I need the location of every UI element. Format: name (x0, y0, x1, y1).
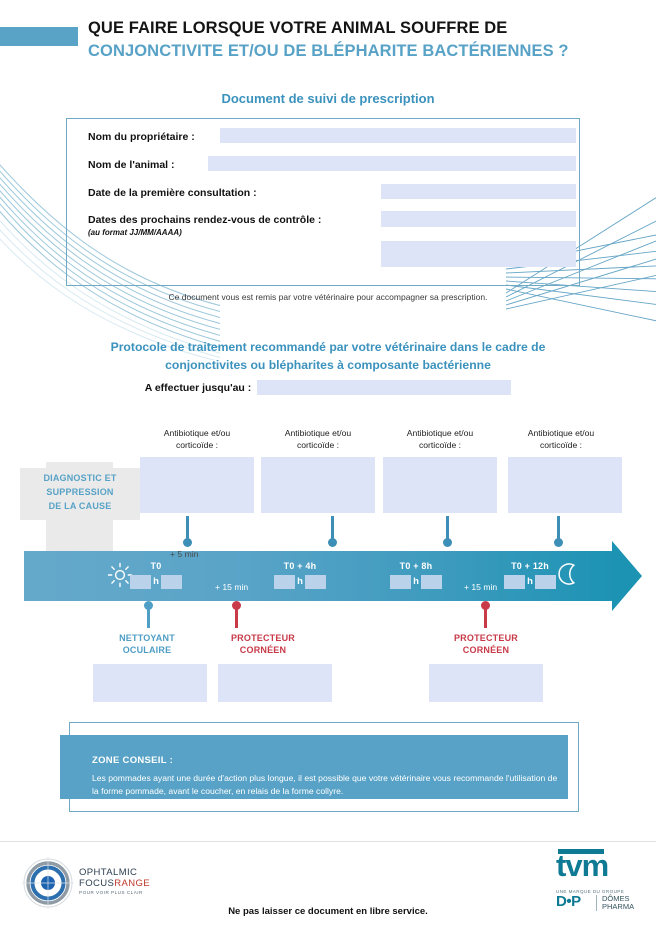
page-title: QUE FAIRE LORSQUE VOTRE ANIMAL SOUFFRE D… (88, 18, 648, 62)
antibiotic-label-2-line-1: Antibiotique et/ou (263, 428, 373, 440)
input-antibiotic-4[interactable] (508, 457, 622, 513)
header-accent-bar (0, 27, 78, 46)
ophtalmic-logo-tagline: POUR VOIR PLUS CLAIR (79, 890, 143, 895)
tvm-logo-word: tvm (556, 850, 608, 881)
label-protecteur-corneen-1: PROTECTEUR CORNÉEN (218, 632, 308, 656)
input-nettoyant-oculaire[interactable] (93, 664, 207, 702)
input-t4-minute[interactable] (305, 575, 326, 589)
antibiotic-label-2-line-2: corticoïde : (263, 440, 373, 452)
input-first-consultation-date[interactable] (381, 184, 576, 199)
input-t0-minute[interactable] (161, 575, 182, 589)
form-note: Ce document vous est remis par votre vét… (0, 292, 656, 302)
ophtalmic-logo-focus: FOCUS (79, 878, 114, 889)
label-next-appointments: Dates des prochains rendez-vous de contr… (88, 214, 321, 226)
timeline-marker-t0-plus-8h-inputs: h (372, 573, 460, 591)
ophtalmic-logo-range: RANGE (114, 878, 150, 889)
protocol-heading-line-1: Protocole de traitement recommandé par v… (38, 339, 618, 357)
diagnostic-label: DIAGNOSTIC ET SUPPRESSION DE LA CAUSE (20, 472, 140, 514)
timeline-marker-t0-plus-4h-inputs: h (256, 573, 344, 591)
label-nettoyant-oculaire: NETTOYANT OCULAIRE (92, 632, 202, 656)
connector-dot-4 (554, 538, 563, 547)
antibiotic-label-3: Antibiotique et/ou corticoïde : (385, 428, 495, 451)
tvm-logo-dp: D•P (556, 894, 581, 909)
timeline-marker-t0-plus-8h: T0 + 8h h (372, 561, 460, 591)
antibiotic-label-4-line-1: Antibiotique et/ou (506, 428, 616, 440)
protocol-heading-line-2: conjonctivites ou blépharites à composan… (38, 357, 618, 375)
input-t4-hour[interactable] (274, 575, 295, 589)
label-protecteur-corneen-2: PROTECTEUR CORNÉEN (441, 632, 531, 656)
diagnostic-label-line-1: DIAGNOSTIC ET (20, 472, 140, 486)
antibiotic-label-3-line-1: Antibiotique et/ou (385, 428, 495, 440)
input-next-appointment-2[interactable] (381, 241, 576, 267)
timeline-marker-t0-plus-4h-label: T0 + 4h (256, 561, 344, 571)
label-animal-name: Nom de l'animal : (88, 159, 175, 171)
document-page: QUE FAIRE LORSQUE VOTRE ANIMAL SOUFFRE D… (0, 0, 656, 925)
input-antibiotic-2[interactable] (261, 457, 375, 513)
t0-hour-unit: h (151, 576, 161, 587)
antibiotic-label-3-line-2: corticoïde : (385, 440, 495, 452)
input-antibiotic-3[interactable] (383, 457, 497, 513)
input-protecteur-corneen-1[interactable] (218, 664, 332, 702)
interval-label-15min-2: + 15 min (464, 582, 497, 592)
t12-hour-unit: h (525, 576, 535, 587)
input-t12-minute[interactable] (535, 575, 556, 589)
connector-dot-3 (443, 538, 452, 547)
advice-body: Les pommades ayant une durée d'action pl… (92, 772, 562, 798)
ophtalmic-focusrange-logo: OPHTALMIC FOCUSRANGE POUR VOIR PLUS CLAI… (22, 855, 212, 911)
interval-label-5min: + 5 min (170, 549, 198, 559)
antibiotic-label-2: Antibiotique et/ou corticoïde : (263, 428, 373, 451)
connector-dot-2 (328, 538, 337, 547)
timeline-marker-t0: T0 h (112, 561, 200, 591)
bottom-connector-protecteur-1 (235, 606, 238, 628)
antibiotic-label-4: Antibiotique et/ou corticoïde : (506, 428, 616, 451)
tvm-logo-divider (596, 895, 597, 911)
t4-hour-unit: h (295, 576, 305, 587)
date-format-hint: (au format JJ/MM/AAAA) (88, 228, 182, 237)
timeline-arrow-head (612, 541, 642, 611)
timeline-marker-t0-plus-12h-label: T0 + 12h (486, 561, 574, 571)
label-protecteur-corneen-2-line-2: CORNÉEN (441, 644, 531, 656)
bottom-connector-protecteur-2 (484, 606, 487, 628)
timeline-marker-t0-inputs: h (112, 573, 200, 591)
input-animal-name[interactable] (208, 156, 576, 171)
antibiotic-label-1: Antibiotique et/ou corticoïde : (142, 428, 252, 451)
input-t8-hour[interactable] (390, 575, 411, 589)
label-owner-name: Nom du propriétaire : (88, 131, 195, 143)
input-t0-hour[interactable] (130, 575, 151, 589)
diagnostic-label-line-3: DE LA CAUSE (20, 500, 140, 514)
protocol-heading: Protocole de traitement recommandé par v… (38, 339, 618, 374)
ophtalmic-logo-line-2: FOCUSRANGE (79, 878, 150, 889)
until-label: A effectuer jusqu'au : (145, 382, 252, 394)
timeline-marker-t0-plus-12h: T0 + 12h h (486, 561, 574, 591)
diagnostic-label-line-2: SUPPRESSION (20, 486, 140, 500)
timeline-marker-t0-plus-12h-inputs: h (486, 573, 574, 591)
input-until-date[interactable] (257, 380, 511, 395)
antibiotic-label-4-line-2: corticoïde : (506, 440, 616, 452)
title-line-1: QUE FAIRE LORSQUE VOTRE ANIMAL SOUFFRE D… (88, 18, 648, 39)
tvm-logo-pharma: PHARMA (602, 902, 634, 911)
antibiotic-label-1-line-1: Antibiotique et/ou (142, 428, 252, 440)
label-protecteur-corneen-1-line-2: CORNÉEN (218, 644, 308, 656)
interval-label-15min-1: + 15 min (215, 582, 248, 592)
antibiotic-label-1-line-2: corticoïde : (142, 440, 252, 452)
timeline-marker-t0-label: T0 (112, 561, 200, 571)
ophtalmic-logo-line-1: OPHTALMIC (79, 867, 137, 878)
input-antibiotic-1[interactable] (140, 457, 254, 513)
input-protecteur-corneen-2[interactable] (429, 664, 543, 702)
label-protecteur-corneen-2-line-1: PROTECTEUR (441, 632, 531, 644)
eye-target-icon (22, 857, 74, 909)
advice-title: ZONE CONSEIL : (92, 755, 173, 766)
input-next-appointment-1[interactable] (381, 211, 576, 227)
page-subtitle: Document de suivi de prescription (0, 91, 656, 106)
input-t12-hour[interactable] (504, 575, 525, 589)
input-owner-name[interactable] (220, 128, 576, 143)
label-nettoyant-oculaire-line-2: OCULAIRE (92, 644, 202, 656)
input-t8-minute[interactable] (421, 575, 442, 589)
label-first-consultation-date: Date de la première consultation : (88, 187, 257, 199)
timeline-marker-t0-plus-8h-label: T0 + 8h (372, 561, 460, 571)
t8-hour-unit: h (411, 576, 421, 587)
label-protecteur-corneen-1-line-1: PROTECTEUR (218, 632, 308, 644)
label-nettoyant-oculaire-line-1: NETTOYANT (92, 632, 202, 644)
until-row: A effectuer jusqu'au : (0, 379, 656, 397)
title-line-2: CONJONCTIVITE ET/OU DE BLÉPHARITE BACTÉR… (88, 41, 648, 62)
footer-divider (0, 841, 656, 842)
timeline-marker-t0-plus-4h: T0 + 4h h (256, 561, 344, 591)
tvm-logo: tvm UNE MARQUE DU GROUPE D•P DÔMES PHARM… (556, 849, 642, 911)
connector-dot-1 (183, 538, 192, 547)
bottom-connector-nettoyant (147, 606, 150, 628)
